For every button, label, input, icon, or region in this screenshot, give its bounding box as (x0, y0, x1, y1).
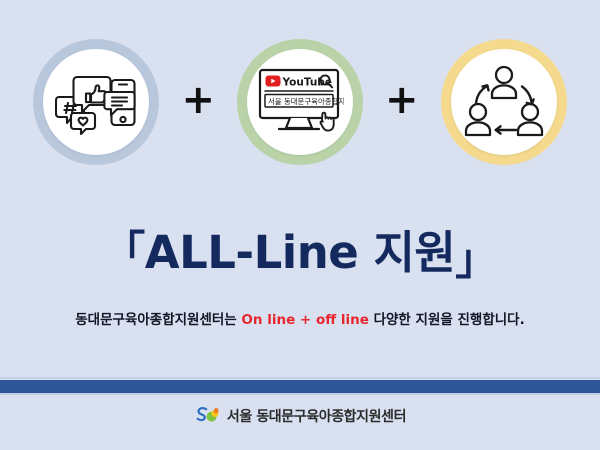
group-network-circle (441, 39, 567, 165)
seoul-dongdaemun-logo-icon (194, 406, 224, 426)
monitor-youtube-search-icon: YouTube 서울 동대문구육아종합지원센터 (256, 65, 344, 139)
bracket-open: 「 (103, 227, 145, 276)
poster-canvas: + (0, 0, 600, 450)
icon-row: + (0, 34, 600, 170)
video-search-circle: YouTube 서울 동대문구육아종합지원센터 (237, 39, 363, 165)
footer-band (0, 380, 600, 393)
sns-circle-inner (43, 49, 149, 155)
subtitle: 동대문구육아종합지원센터는 On line + off line 다양한 지원을… (0, 308, 600, 328)
search-query-text: 서울 동대문구육아종합지원센터 (268, 97, 344, 106)
headline-korean: 지원 (373, 226, 455, 279)
sns-circle (33, 39, 159, 165)
group-network-circle-inner (451, 49, 557, 155)
svg-text:YouTube: YouTube (282, 76, 332, 88)
bracket-close: 」 (455, 235, 497, 284)
page-title: 「ALL-Line 지원」 (0, 228, 600, 283)
footer-organization-name: 서울 동대문구육아종합지원센터 (227, 406, 406, 426)
plus-separator-2: + (385, 80, 419, 120)
video-search-circle-inner: YouTube 서울 동대문구육아종합지원센터 (247, 49, 353, 155)
headline-english: ALL-Line (145, 226, 359, 279)
sns-chat-smartphone-icon (55, 69, 137, 135)
footer: 서울 동대문구육아종합지원센터 (0, 406, 600, 426)
three-people-cycle-icon (462, 64, 546, 140)
footer-rule-top (0, 377, 600, 379)
subtitle-highlight: On line + off line (241, 312, 368, 328)
subtitle-after: 다양한 지원을 진행합니다. (374, 312, 525, 328)
plus-separator-1: + (181, 80, 215, 120)
subtitle-before: 동대문구육아종합지원센터는 (75, 312, 236, 328)
footer-rule-bottom (0, 393, 600, 395)
